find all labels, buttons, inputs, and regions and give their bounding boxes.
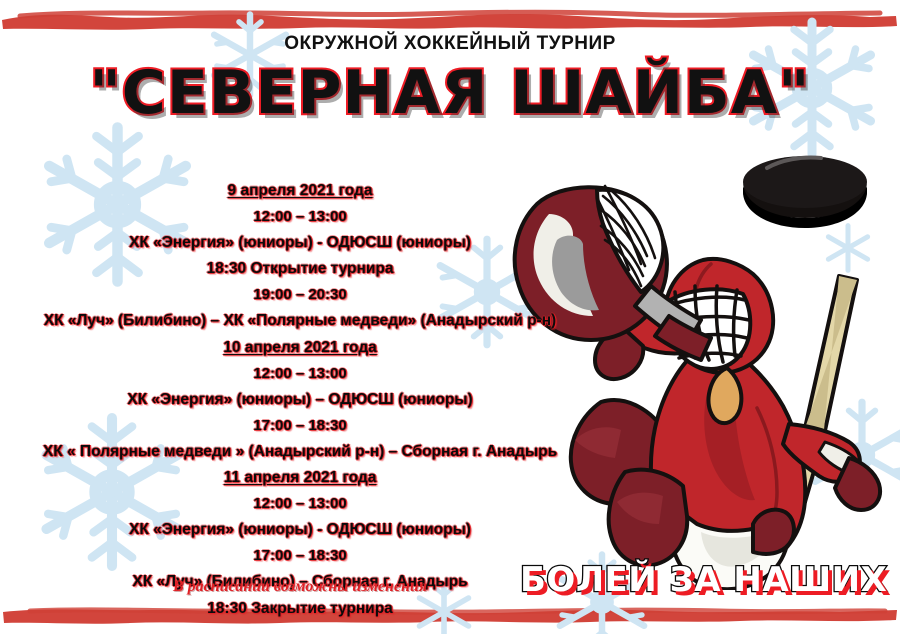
snowflake-icon: [802, 395, 900, 515]
snowflake-icon: [820, 220, 876, 276]
poster-kicker: ОКРУЖНОЙ ХОККЕЙНЫЙ ТУРНИР: [0, 33, 900, 55]
schedule-match: ХК « Полярные медведи » (Анадырский р-н)…: [0, 439, 600, 465]
page-title: "СЕВЕРНАЯ ШАЙБА": [0, 58, 900, 138]
goalie-jersey: [651, 344, 805, 573]
goalie-helmet: [665, 259, 773, 423]
poster-canvas: ОКРУЖНОЙ ХОККЕЙНЫЙ ТУРНИР "СЕВЕРНАЯ ШАЙБ…: [0, 0, 900, 634]
skate-icon: [753, 510, 794, 554]
page-title-text: "СЕВЕРНАЯ ШАЙБА": [90, 58, 811, 128]
top-brush-stroke: [0, 4, 900, 34]
schedule-match: ХК «Энергия» (юниоры) - ОДЮСШ (юниоры): [0, 517, 600, 543]
schedule-match: ХК «Энергия» (юниоры) – ОДЮСШ (юниоры): [0, 387, 600, 413]
schedule-disclaimer: В расписании возможны изменения: [0, 578, 600, 596]
schedule-date: 9 апреля 2021 года: [0, 178, 600, 204]
goalie-leg-pad-right: [609, 470, 688, 566]
schedule-match: ХК «Луч» (Билибино) – ХК «Полярные медве…: [0, 308, 600, 334]
slogan-text: БОЛЕЙ ЗА НАШИХ !: [520, 560, 900, 600]
schedule-time: 17:00 – 18:30: [0, 413, 600, 439]
slogan: БОЛЕЙ ЗА НАШИХ !: [520, 560, 890, 600]
schedule-match: ХК «Энергия» (юниоры) - ОДЮСШ (юниоры): [0, 230, 600, 256]
schedule-time: 17:00 – 18:30: [0, 543, 600, 569]
schedule-event: 18:30 Закрытие турнира: [0, 596, 600, 622]
schedule-date: 10 апреля 2021 года: [0, 335, 600, 361]
hockey-puck-icon: [743, 156, 867, 228]
goalie-arm-right: [783, 424, 880, 510]
schedule-time: 19:00 – 20:30: [0, 282, 600, 308]
schedule-time: 12:00 – 13:00: [0, 204, 600, 230]
schedule-event: 18:30 Открытие турнира: [0, 256, 600, 282]
schedule-time: 12:00 – 13:00: [0, 361, 600, 387]
schedule-date: 11 апреля 2021 года: [0, 465, 600, 491]
goalie-stick-icon: [741, 276, 857, 558]
schedule-list: 9 апреля 2021 года12:00 – 13:00ХК «Энерг…: [0, 178, 600, 622]
schedule-time: 12:00 – 13:00: [0, 491, 600, 517]
